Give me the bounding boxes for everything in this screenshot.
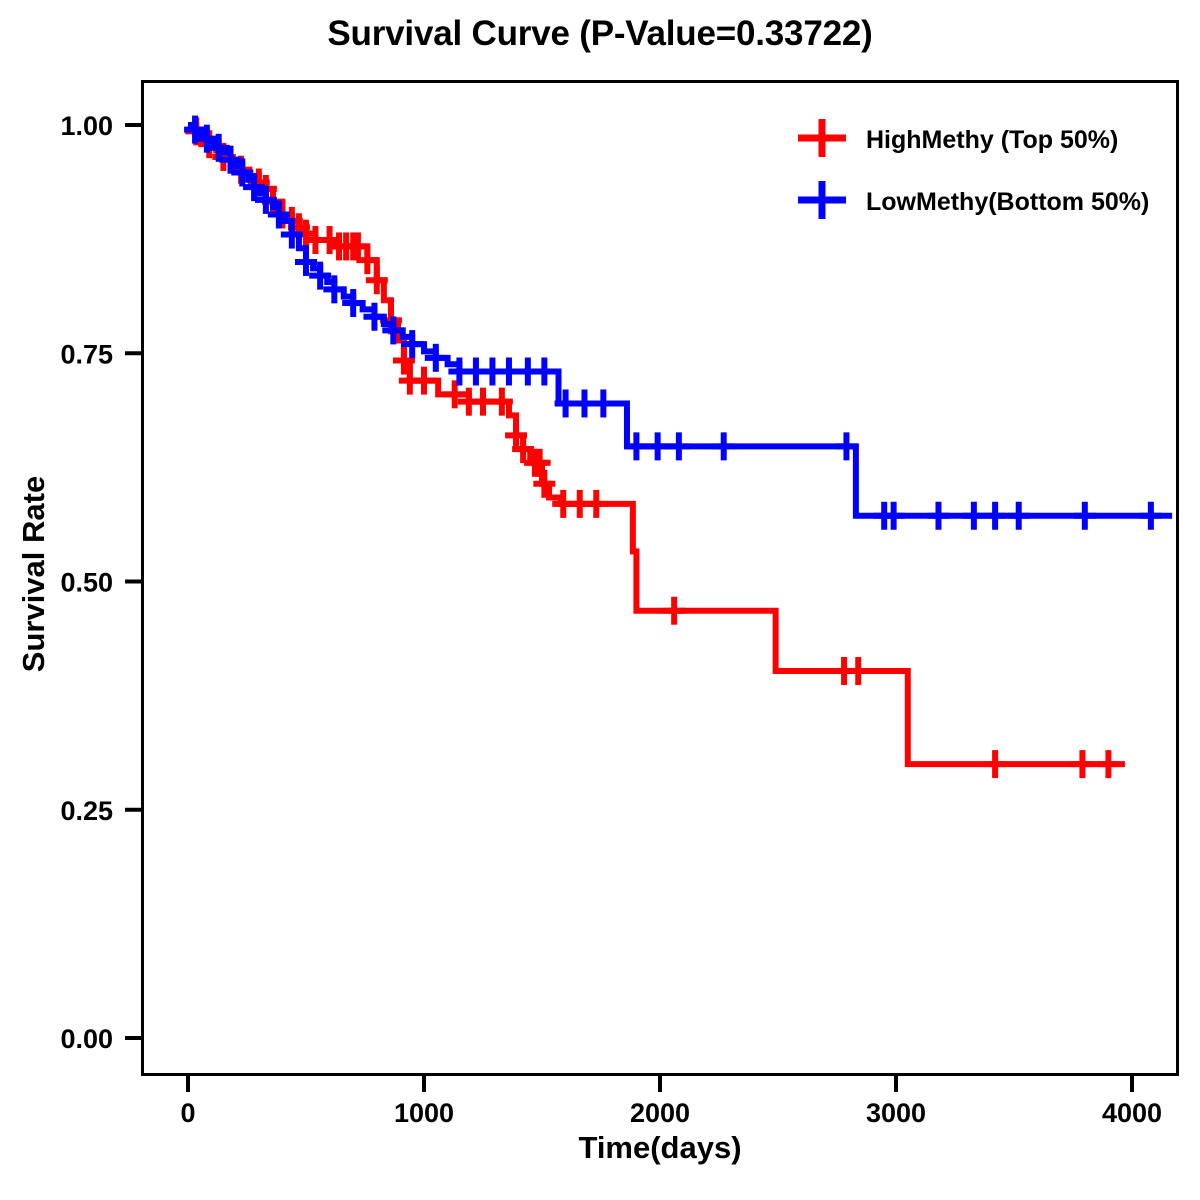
plot-area: 01000200030004000 0.000.250.500.751.00 H… <box>0 0 1200 1200</box>
x-tick-label: 2000 <box>630 1098 690 1128</box>
survival-curve-figure: Survival Curve (P-Value=0.33722) Surviva… <box>0 0 1200 1200</box>
y-tick-label: 0.75 <box>60 339 113 369</box>
y-tick-label: 1.00 <box>60 111 113 141</box>
y-tick-label: 0.00 <box>60 1024 113 1054</box>
legend-entry-label: LowMethy(Bottom 50%) <box>866 188 1149 216</box>
y-axis-ticks: 0.000.250.500.751.00 <box>60 111 141 1054</box>
x-tick-label: 3000 <box>866 1098 926 1128</box>
y-tick-label: 0.25 <box>60 796 113 826</box>
x-tick-label: 1000 <box>394 1098 454 1128</box>
legend-entry-label: HighMethy (Top 50%) <box>866 126 1118 154</box>
y-tick-label: 0.50 <box>60 568 113 598</box>
x-tick-label: 0 <box>180 1098 195 1128</box>
x-axis-ticks: 01000200030004000 <box>180 1076 1162 1128</box>
x-tick-label: 4000 <box>1102 1098 1162 1128</box>
